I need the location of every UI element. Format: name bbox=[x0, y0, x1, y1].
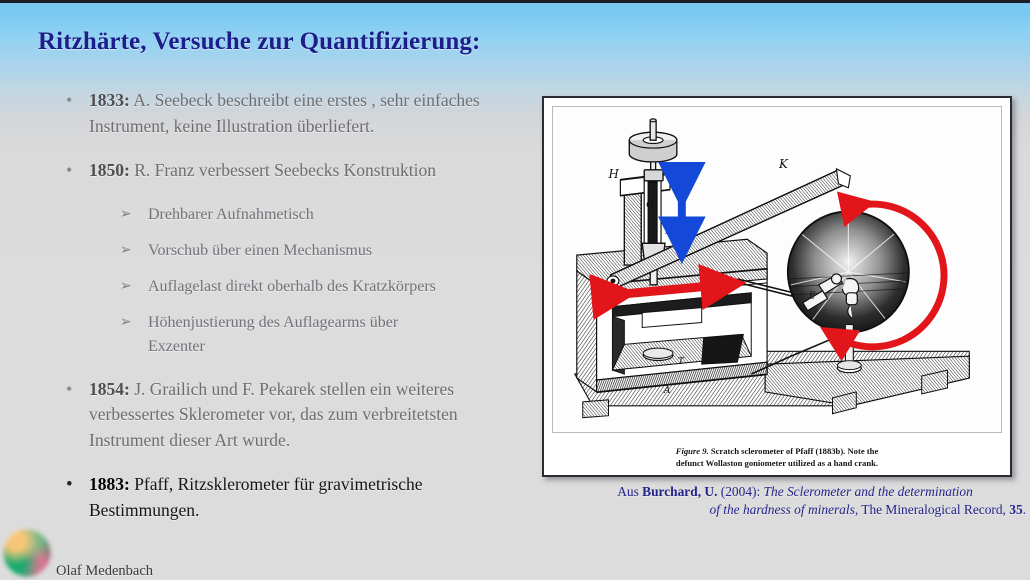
svg-text:T: T bbox=[678, 357, 685, 367]
svg-text:A: A bbox=[663, 386, 670, 396]
author-footer: Olaf Medenbach bbox=[56, 563, 153, 580]
svg-text:E: E bbox=[808, 292, 816, 302]
list-item: • 1850: R. Franz verbessert Seebecks Kon… bbox=[62, 158, 532, 184]
figure-caption-line2: defunct Wollaston goniometer utilized as… bbox=[676, 458, 878, 468]
list-item-body: Pfaff, Ritzsklerometer für gravimetrisch… bbox=[89, 474, 423, 520]
list-item-body: A. Seebeck beschreibt eine erstes , sehr… bbox=[89, 90, 480, 136]
list-item-text: Vorschub über einen Mechanismus bbox=[148, 239, 372, 263]
sclerometer-engraving-icon: T A bbox=[553, 107, 1001, 432]
figure-caption: Figure 9. Scratch sclerometer of Pfaff (… bbox=[554, 446, 1000, 469]
list-item-text: 1850: R. Franz verbessert Seebecks Konst… bbox=[89, 158, 436, 184]
bullet-marker-icon: • bbox=[62, 472, 89, 497]
credit-author: Burchard, U. bbox=[642, 484, 717, 499]
list-item: • 1854: J. Grailich und F. Pekarek stell… bbox=[62, 377, 532, 454]
figure-card: T A bbox=[542, 96, 1012, 477]
svg-text:K: K bbox=[778, 157, 789, 171]
credit-end: . bbox=[1023, 502, 1026, 517]
credit-work-line2: of the hardness of minerals bbox=[710, 502, 855, 517]
bullet-marker-icon: • bbox=[62, 377, 89, 402]
list-item: ➢ Auflagelast direkt oberhalb des Kratzk… bbox=[62, 275, 532, 299]
list-item: ➢ Höhenjustierung des Auflagearms über E… bbox=[62, 311, 532, 359]
list-item-body: J. Grailich und F. Pekarek stellen ein w… bbox=[89, 379, 458, 450]
list-item-text: 1883: Pfaff, Ritzsklerometer für gravime… bbox=[89, 472, 519, 523]
list-item-lead: 1850: bbox=[89, 160, 130, 180]
slide-canvas: Ritzhärte, Versuche zur Quantifizierung:… bbox=[0, 0, 1030, 580]
credit-line2: of the hardness of minerals, The Mineral… bbox=[560, 501, 1030, 519]
list-item-body: R. Franz verbessert Seebecks Konstruktio… bbox=[130, 160, 436, 180]
svg-text:F: F bbox=[664, 223, 673, 236]
credit-year: (2004): bbox=[717, 484, 763, 499]
list-item: ➢ Vorschub über einen Mechanismus bbox=[62, 239, 532, 263]
list-item-text: Auflagelast direkt oberhalb des Kratzkör… bbox=[148, 275, 436, 299]
arrow-bullet-icon: ➢ bbox=[120, 239, 148, 263]
credit-work-line1: The Sclerometer and the determination bbox=[764, 484, 973, 499]
arrow-bullet-icon: ➢ bbox=[120, 275, 148, 299]
arrow-bullet-icon: ➢ bbox=[120, 311, 148, 335]
source-citation: Aus Burchard, U. (2004): The Sclerometer… bbox=[560, 483, 1030, 519]
list-item-lead: 1833: bbox=[89, 90, 130, 110]
svg-text:G: G bbox=[646, 200, 654, 211]
list-item: ➢ Drehbarer Aufnahmetisch bbox=[62, 203, 532, 227]
mineral-thin-section-logo-icon bbox=[3, 529, 51, 577]
credit-volume: 35 bbox=[1009, 502, 1022, 517]
slide-top-edge-bar bbox=[0, 0, 1030, 3]
credit-journal: , The Mineralogical Record, bbox=[855, 502, 1009, 517]
list-item-lead: 1883: bbox=[89, 474, 130, 494]
list-item-text: 1833: A. Seebeck beschreibt eine erstes … bbox=[89, 88, 532, 139]
credit-prefix: Aus bbox=[617, 484, 642, 499]
list-item-text: Drehbarer Aufnahmetisch bbox=[148, 203, 314, 227]
list-item-text: 1854: J. Grailich und F. Pekarek stellen… bbox=[89, 377, 509, 454]
figure-number: Figure 9. bbox=[676, 446, 709, 456]
figure-image-frame: T A bbox=[552, 106, 1002, 433]
bullet-marker-icon: • bbox=[62, 158, 89, 183]
list-item-text: Höhenjustierung des Auflagearms über Exz… bbox=[148, 311, 433, 359]
list-item: • 1883: Pfaff, Ritzsklerometer für gravi… bbox=[62, 472, 532, 523]
figure-caption-line1: Scratch sclerometer of Pfaff (1883b). No… bbox=[709, 446, 879, 456]
page-title: Ritzhärte, Versuche zur Quantifizierung: bbox=[38, 28, 480, 56]
list-item-lead: 1854: bbox=[89, 379, 130, 399]
svg-text:H: H bbox=[608, 167, 620, 181]
bullet-marker-icon: • bbox=[62, 88, 89, 113]
list-item: • 1833: A. Seebeck beschreibt eine erste… bbox=[62, 88, 532, 139]
arrow-bullet-icon: ➢ bbox=[120, 203, 148, 227]
bullet-list: • 1833: A. Seebeck beschreibt eine erste… bbox=[62, 88, 532, 536]
